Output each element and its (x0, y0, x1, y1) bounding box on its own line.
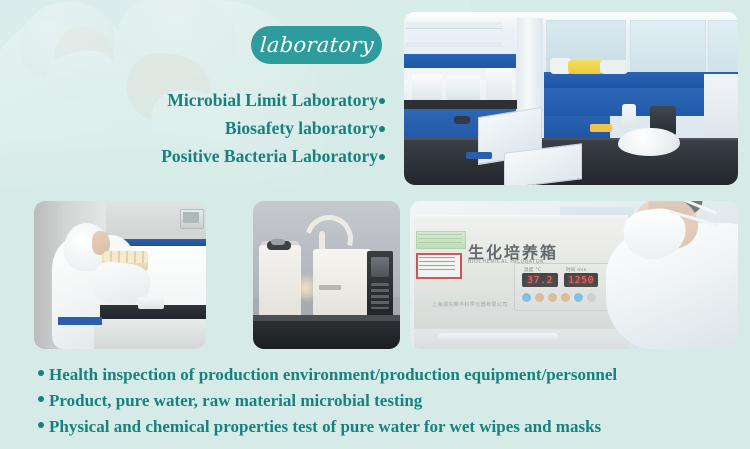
headline-line-3-text: Positive Bacteria Laboratory (161, 146, 378, 166)
photo-cleanroom-technician (34, 201, 206, 349)
bullet-dot-icon (38, 370, 44, 376)
list-item: Physical and chemical properties test of… (38, 416, 728, 438)
lab-room-cabinet-far-right (704, 74, 738, 138)
cleanroom-hood-display-screen (183, 212, 199, 223)
lab-room-bottle (622, 104, 636, 128)
laboratory-badge-label: laboratory (259, 33, 375, 57)
list-item: Product, pure water, raw material microb… (38, 390, 728, 412)
lab-room-fume-hood-glass-b (630, 20, 706, 74)
lab-room-fume-hood-glass-c (708, 20, 738, 74)
bullet-text-3: Physical and chemical properties test of… (49, 416, 601, 438)
service-bullet-list: Health inspection of production environm… (38, 364, 728, 442)
lab-room-stool (454, 116, 470, 124)
chromatograph-table (253, 321, 400, 349)
list-item: Health inspection of production environm… (38, 364, 728, 386)
bullet-dot-icon (38, 396, 44, 402)
photo-biochemical-incubator: 生化培养箱 BIOCHEMICAL INCUBATOR 上海浦东荣丰科学仪器有限… (410, 201, 738, 349)
headline-line-3: Positive Bacteria Laboratory (60, 142, 385, 170)
chromatograph-keypad (371, 283, 389, 309)
lab-room-instrument-b (446, 76, 480, 100)
lab-room-instrument-c (486, 68, 512, 100)
headline-line-2: Biosafety laboratory (60, 114, 385, 142)
chromatograph-knob (271, 239, 285, 245)
chromatograph-screen (371, 257, 389, 277)
bullet-dot-icon (38, 422, 44, 428)
lab-room-bench-edge (404, 100, 522, 109)
headline-bullet-icon (379, 98, 385, 104)
lab-room-blue-object (466, 152, 492, 159)
bullet-text-1: Health inspection of production environm… (49, 364, 617, 386)
photo-gas-chromatograph (253, 201, 400, 349)
lab-room-instrument-a (412, 74, 442, 100)
lab-room-supply-yellow (568, 60, 604, 74)
laboratory-banner: laboratory Microbial Limit Laboratory Bi… (0, 0, 750, 449)
cleanroom-bench-front (94, 319, 206, 349)
chromatograph-brand-label (319, 285, 341, 290)
laboratory-badge: laboratory (251, 26, 382, 64)
headline-line-1: Microbial Limit Laboratory (60, 86, 385, 114)
lab-room-supply-white-b (600, 60, 628, 74)
bullet-text-2: Product, pure water, raw material microb… (49, 390, 422, 412)
lab-room-shelf-upper (406, 22, 502, 28)
chromatograph-main-unit (313, 249, 371, 319)
lab-room-sample-rack (590, 124, 612, 132)
incubator-photo-haze (410, 201, 738, 349)
photo-laboratory-room (404, 12, 738, 185)
cleanroom-bench-blue-trim (58, 317, 102, 325)
headline-list: Microbial Limit Laboratory Biosafety lab… (60, 86, 385, 170)
lab-room-shelf-lower (406, 42, 502, 47)
headline-bullet-icon (379, 154, 385, 160)
lab-room-wrapped-bundle (618, 128, 680, 156)
cleanroom-bench-item (138, 297, 164, 309)
lab-room-blue-panel-left (404, 54, 516, 68)
headline-bullet-icon (379, 126, 385, 132)
headline-line-2-text: Biosafety laboratory (225, 118, 378, 138)
headline-line-1-text: Microbial Limit Laboratory (167, 90, 378, 110)
